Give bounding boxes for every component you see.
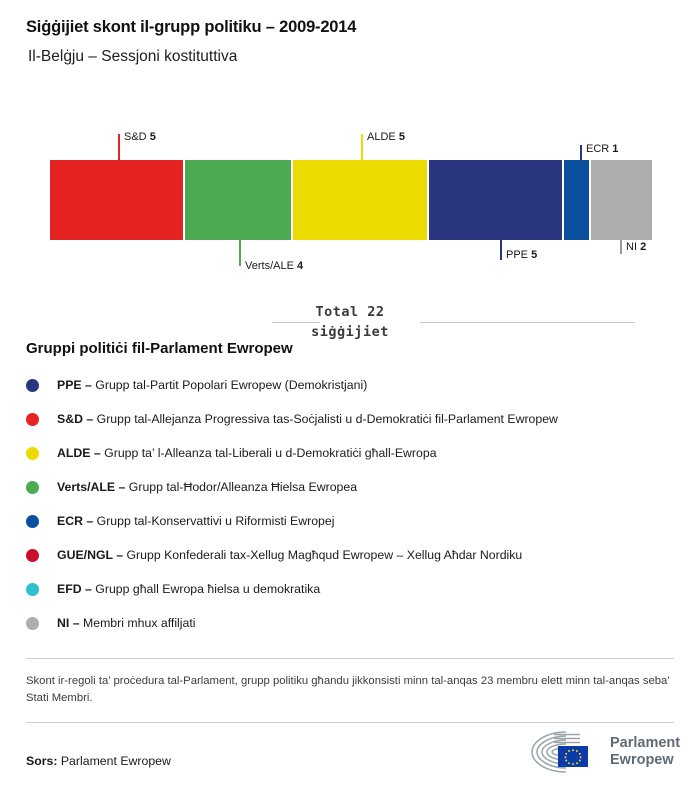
bar-track xyxy=(50,160,652,240)
bar-segment-sd[interactable] xyxy=(50,160,185,240)
segment-callout-ppe-value: 5 xyxy=(531,249,537,261)
footer-divider xyxy=(26,722,674,723)
legend-desc-gue-ngl: Grupp Konfederali tax-Xellug Magħqud Ewr… xyxy=(126,548,522,562)
legend-item-gue-ngl[interactable]: GUE/NGL – Grupp Konfederali tax-Xellug M… xyxy=(26,538,676,572)
segment-callout-ppe: PPE 5 xyxy=(506,250,537,261)
legend-desc-verts-ale: Grupp tal-Ħodor/Alleanza Ħielsa Ewropea xyxy=(129,480,357,494)
legend-title: Gruppi politiċi fil-Parlament Ewropew xyxy=(26,340,293,357)
bar-segment-verts-ale[interactable] xyxy=(185,160,293,240)
ep-wordmark-line2: Ewropew xyxy=(610,752,680,769)
legend-desc-ecr: Grupp tal-Konservattivi u Riformisti Ewr… xyxy=(97,514,335,528)
stacked-bar-chart: S&D 5 ALDE 5 ECR 1 Verts/ALE 4 PPE 5 NI … xyxy=(0,118,700,288)
legend-abbr-alde: ALDE – xyxy=(57,446,101,460)
source-line: Sors: Parlament Ewropew xyxy=(26,754,171,768)
legend-item-sd[interactable]: S&D – Grupp tal-Allejanza Progressiva ta… xyxy=(26,402,676,436)
source-label: Sors: xyxy=(26,754,57,768)
legend-abbr-ppe: PPE – xyxy=(57,378,92,392)
legend-item-alde[interactable]: ALDE – Grupp ta’ l-Alleanza tal-Liberali… xyxy=(26,436,676,470)
bar-segment-ni[interactable] xyxy=(591,160,652,240)
bar-segment-ecr[interactable] xyxy=(564,160,591,240)
legend-item-ni[interactable]: NI – Membri mhux affiljati xyxy=(26,606,676,640)
segment-callout-sd-value: 5 xyxy=(150,131,156,143)
legend-color-dot-icon-alde xyxy=(26,447,39,460)
segment-callout-ni-value: 2 xyxy=(640,241,646,253)
segment-callout-alde-name: ALDE xyxy=(367,131,396,143)
legend-abbr-sd: S&D – xyxy=(57,412,93,426)
legend-abbr-efd: EFD – xyxy=(57,582,92,596)
page-subtitle: Il-Belġju – Sessjoni kostituttiva xyxy=(28,48,237,66)
footnote-divider xyxy=(26,658,674,659)
legend-color-dot-icon-ppe xyxy=(26,379,39,392)
leader-line-ecr xyxy=(580,145,582,160)
total-band: Total 22 siġġijiet xyxy=(0,300,700,344)
segment-callout-alde-value: 5 xyxy=(399,131,405,143)
segment-callout-ecr-name: ECR xyxy=(586,143,609,155)
source-value: Parlament Ewropew xyxy=(61,754,171,768)
legend-color-dot-icon-sd xyxy=(26,413,39,426)
total-seats: Total 22 siġġijiet xyxy=(0,302,700,342)
segment-callout-sd-name: S&D xyxy=(124,131,147,143)
european-parliament-logo: Parlament Ewropew xyxy=(528,728,678,776)
legend-desc-ni: Membri mhux affiljati xyxy=(83,616,196,630)
hemicycle-icon xyxy=(528,729,604,775)
segment-callout-ni-name: NI xyxy=(626,241,637,253)
legend-desc-efd: Grupp għall Ewropa ħielsa u demokratika xyxy=(95,582,320,596)
segment-callout-ppe-name: PPE xyxy=(506,249,528,261)
segment-callout-verts-ale: Verts/ALE 4 xyxy=(245,261,303,272)
legend-desc-sd: Grupp tal-Allejanza Progressiva tas-Soċj… xyxy=(97,412,558,426)
legend-color-dot-icon-gue-ngl xyxy=(26,549,39,562)
legend-abbr-verts-ale: Verts/ALE – xyxy=(57,480,125,494)
leader-line-verts-ale xyxy=(239,240,241,266)
leader-line-alde xyxy=(361,134,363,160)
segment-callout-verts-ale-name: Verts/ALE xyxy=(245,260,294,272)
leader-line-ni xyxy=(620,240,622,254)
legend-color-dot-icon-ni xyxy=(26,617,39,630)
legend-abbr-gue-ngl: GUE/NGL – xyxy=(57,548,123,562)
footnote-text: Skont ir-regoli ta’ proċedura tal-Parlam… xyxy=(26,673,676,707)
bar-segment-alde[interactable] xyxy=(293,160,429,240)
segment-callout-ecr: ECR 1 xyxy=(586,144,618,155)
legend-item-efd[interactable]: EFD – Grupp għall Ewropa ħielsa u demokr… xyxy=(26,572,676,606)
segment-callout-verts-ale-value: 4 xyxy=(297,260,303,272)
legend-item-ppe[interactable]: PPE – Grupp tal-Partit Popolari Ewropew … xyxy=(26,368,676,402)
segment-callout-ecr-value: 1 xyxy=(612,143,618,155)
total-seats-unit: siġġijiet xyxy=(0,322,700,342)
page-title: Siġġijiet skont il-grupp politiku – 2009… xyxy=(26,18,356,37)
legend-abbr-ecr: ECR – xyxy=(57,514,93,528)
legend-desc-alde: Grupp ta’ l-Alleanza tal-Liberali u d-De… xyxy=(104,446,436,460)
legend-list: PPE – Grupp tal-Partit Popolari Ewropew … xyxy=(26,368,676,640)
segment-callout-ni: NI 2 xyxy=(626,242,646,253)
ep-wordmark-line1: Parlament xyxy=(610,735,680,752)
legend-color-dot-icon-ecr xyxy=(26,515,39,528)
leader-line-sd xyxy=(118,134,120,160)
legend-item-ecr[interactable]: ECR – Grupp tal-Konservattivi u Riformis… xyxy=(26,504,676,538)
legend-item-verts-ale[interactable]: Verts/ALE – Grupp tal-Ħodor/Alleanza Ħie… xyxy=(26,470,676,504)
total-seats-count: Total 22 xyxy=(0,302,700,322)
legend-color-dot-icon-verts-ale xyxy=(26,481,39,494)
segment-callout-alde: ALDE 5 xyxy=(367,132,405,143)
bar-segment-ppe[interactable] xyxy=(429,160,564,240)
ep-wordmark: Parlament Ewropew xyxy=(610,735,680,769)
legend-color-dot-icon-efd xyxy=(26,583,39,596)
leader-line-ppe xyxy=(500,240,502,260)
segment-callout-sd: S&D 5 xyxy=(124,132,156,143)
legend-desc-ppe: Grupp tal-Partit Popolari Ewropew (Demok… xyxy=(95,378,367,392)
legend-abbr-ni: NI – xyxy=(57,616,80,630)
